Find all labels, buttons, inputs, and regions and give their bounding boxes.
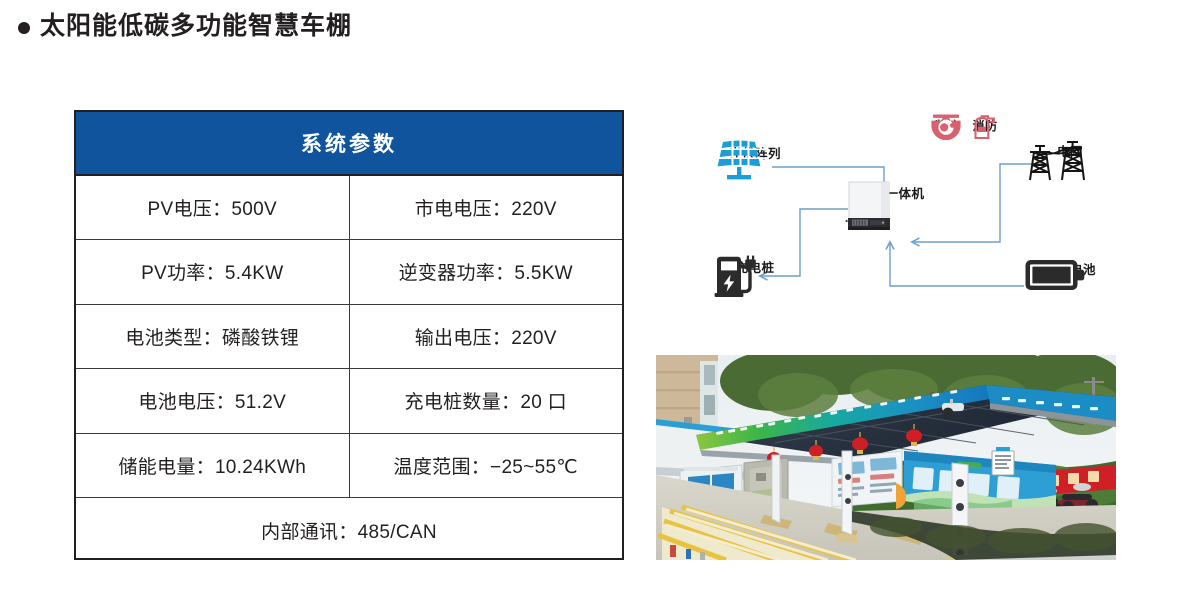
table-row: PV功率：5.4KW 逆变器功率：5.5KW: [76, 240, 622, 305]
param-battery-voltage: 电池电压：51.2V: [76, 369, 349, 434]
diagram-node-power-grid: 电网: [1024, 138, 1116, 160]
table-row: 电池类型：磷酸铁锂 输出电压：220V: [76, 304, 622, 369]
param-battery-type: 电池类型：磷酸铁锂: [76, 304, 349, 369]
system-flow-diagram: 光伏阵列 监控: [652, 104, 1122, 344]
param-grid-voltage: 市电电压：220V: [349, 175, 622, 240]
system-parameter-table: 系统参数 PV电压：500V 市电电压：220V PV功率：5.4KW 逆变器功…: [74, 110, 624, 560]
diagram-node-storage-battery: 储能电池: [1024, 256, 1116, 278]
table-row: 电池电压：51.2V 充电桩数量：20 口: [76, 369, 622, 434]
table-header-row: 系统参数: [76, 112, 622, 175]
flow-battery-to-inverter: [890, 244, 1024, 286]
diagram-node-hybrid-inverter: 光储一体机: [842, 180, 942, 202]
solar-carport-photo: [656, 355, 1116, 560]
param-pv-power: PV功率：5.4KW: [76, 240, 349, 305]
table-header-cell: 系统参数: [76, 112, 622, 175]
param-internal-comm: 内部通讯：485/CAN: [76, 498, 622, 563]
param-pv-voltage: PV电压：500V: [76, 175, 349, 240]
param-pile-count: 充电桩数量：20 口: [349, 369, 622, 434]
diagram-node-fire-protection: 消防: [968, 114, 1002, 134]
table-row: PV电压：500V 市电电压：220V: [76, 175, 622, 240]
bullet-dot-icon: [18, 22, 30, 34]
param-temperature-range: 温度范围：−25~55℃: [349, 433, 622, 498]
param-storage-capacity: 储能电量：10.24KWh: [76, 433, 349, 498]
param-inverter-power: 逆变器功率：5.5KW: [349, 240, 622, 305]
param-output-voltage: 输出电压：220V: [349, 304, 622, 369]
slide-page: 太阳能低碳多功能智慧车棚 系统参数 PV电压：500V 市电电压：220V PV…: [0, 0, 1200, 605]
table-row: 内部通讯：485/CAN: [76, 498, 622, 563]
diagram-node-charging-pile: 充电桩: [710, 254, 800, 276]
photo-content: [656, 355, 1116, 560]
page-title: 太阳能低碳多功能智慧车棚: [18, 14, 352, 39]
diagram-node-surveillance: 监控: [930, 114, 964, 134]
page-title-text: 太阳能低碳多功能智慧车棚: [40, 14, 352, 39]
diagram-node-pv-array: 光伏阵列: [710, 140, 800, 162]
table-row: 储能电量：10.24KWh 温度范围：−25~55℃: [76, 433, 622, 498]
